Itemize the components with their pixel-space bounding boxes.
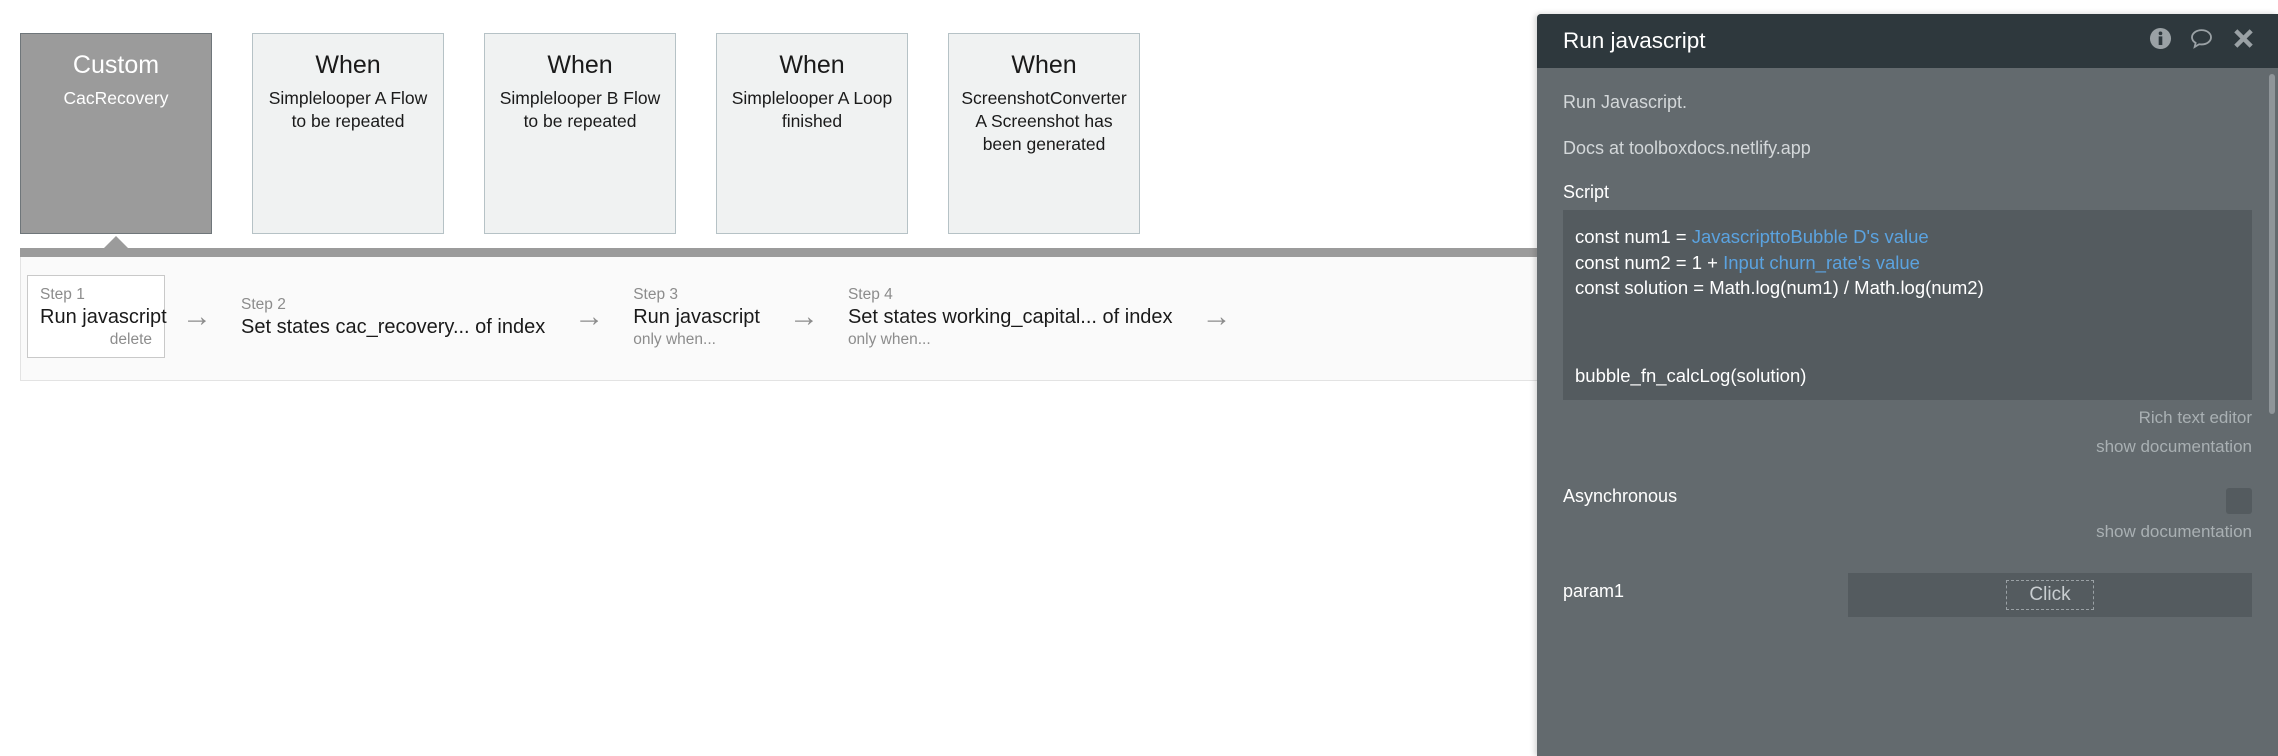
property-editor-header: Run javascript [1537,14,2278,68]
event-card-title: When [315,50,380,81]
workflow-strip-pointer-icon [103,236,129,249]
property-editor-title: Run javascript [1563,28,2149,54]
workflow-step-list: Step 1 Run javascript delete → Step 2 Se… [27,275,1249,358]
event-card-subtitle: Simplelooper B Flow to be repeated [485,87,675,133]
event-card-simplelooper-a-loop-finished[interactable]: When Simplelooper A Loop finished [716,33,908,234]
event-card-screenshotconverter[interactable]: When ScreenshotConverter A Screenshot ha… [948,33,1140,234]
event-card-subtitle: Simplelooper A Flow to be repeated [253,87,443,133]
code-static: const num2 = 1 + [1575,252,1723,273]
event-card-title: When [1011,50,1076,81]
info-icon[interactable] [2149,27,2172,55]
event-card-subtitle: CacRecovery [55,87,176,110]
property-editor-body: Run Javascript. Docs at toolboxdocs.netl… [1537,68,2278,617]
param1-input[interactable]: Click [1848,573,2252,617]
event-card-custom-cacrecovery[interactable]: Custom CacRecovery [20,33,212,234]
property-editor-scrollbar[interactable] [2269,74,2275,414]
step-number: Step 2 [241,295,545,314]
param1-row: param1 Click [1563,573,2252,617]
step-arrow-icon: → [1185,302,1249,332]
event-card-row: Custom CacRecovery When Simplelooper A F… [20,33,1140,234]
event-card-simplelooper-a-flow[interactable]: When Simplelooper A Flow to be repeated [252,33,444,234]
step-condition: only when... [633,330,760,350]
step-delete-link[interactable]: delete [40,330,152,350]
step-title: Run javascript [633,304,760,330]
asynchronous-show-documentation-link[interactable]: show documentation [1563,520,2252,543]
asynchronous-label: Asynchronous [1563,486,1677,507]
event-card-subtitle: ScreenshotConverter A Screenshot has bee… [949,87,1139,156]
event-card-simplelooper-b-flow[interactable]: When Simplelooper B Flow to be repeated [484,33,676,234]
workflow-step-4[interactable]: Step 4 Set states working_capital... of … [836,276,1185,357]
step-condition: only when... [848,330,1173,350]
event-card-title: When [779,50,844,81]
workflow-step-3[interactable]: Step 3 Run javascript only when... [621,276,772,357]
code-line-1: const num1 = JavascripttoBubble D's valu… [1575,224,2240,250]
workflow-step-2[interactable]: Step 2 Set states cac_recovery... of ind… [229,283,557,351]
event-card-title: Custom [73,50,159,81]
script-show-documentation-link[interactable]: show documentation [1563,435,2252,458]
dynamic-expression-input-churn-rate[interactable]: Input churn_rate's value [1723,252,1920,273]
code-line-3: const solution = Math.log(num1) / Math.l… [1575,275,2240,301]
step-number: Step 3 [633,285,760,304]
step-arrow-icon: → [165,302,229,332]
param1-click-placeholder: Click [2006,580,2093,610]
event-card-title: When [547,50,612,81]
script-code-editor[interactable]: const num1 = JavascripttoBubble D's valu… [1563,210,2252,400]
asynchronous-checkbox[interactable] [2226,488,2252,514]
step-arrow-icon: → [557,302,621,332]
rich-text-editor-link[interactable]: Rich text editor [1563,406,2252,429]
code-static: const num1 = [1575,226,1692,247]
description-line-2: Docs at toolboxdocs.netlify.app [1563,136,2252,160]
code-line-last: bubble_fn_calcLog(solution) [1575,363,1806,389]
close-icon[interactable] [2231,26,2256,56]
description-line-1: Run Javascript. [1563,90,2252,114]
step-arrow-icon: → [772,302,836,332]
dynamic-expression-javascripttobubble[interactable]: JavascripttoBubble D's value [1692,226,1929,247]
step-number: Step 1 [40,285,152,304]
asynchronous-row: Asynchronous [1563,486,2252,514]
property-editor-panel: Run javascript Run Javascript. Docs at t… [1537,14,2278,756]
step-title: Run javascript [40,304,152,330]
script-field-label: Script [1563,182,2252,203]
workflow-step-1[interactable]: Step 1 Run javascript delete [27,275,165,358]
code-line-2: const num2 = 1 + Input churn_rate's valu… [1575,250,2240,276]
step-title: Set states working_capital... of index [848,304,1173,330]
comment-icon[interactable] [2189,26,2214,56]
param1-label: param1 [1563,581,1624,602]
step-number: Step 4 [848,285,1173,304]
property-editor-header-actions [2149,26,2256,56]
event-card-subtitle: Simplelooper A Loop finished [717,87,907,133]
step-title: Set states cac_recovery... of index [241,314,545,340]
